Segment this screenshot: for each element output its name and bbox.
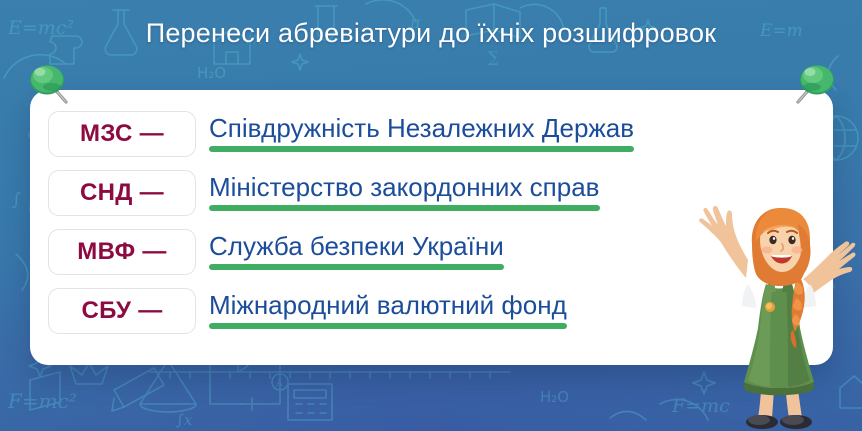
abbreviation-chip-4[interactable]: СБУ — — [48, 288, 196, 334]
answer-slot-3[interactable]: Служба безпеки України — [209, 233, 504, 269]
page-title: Перенеси абревіатури до їхніх розшифрово… — [0, 18, 862, 49]
matching-row[interactable]: МЗС — Співдружність Незалежних Держав — [48, 104, 816, 163]
svg-text:∑: ∑ — [488, 48, 499, 66]
abbreviation-chip-1[interactable]: МЗС — — [48, 111, 196, 157]
matching-rows: МЗС — Співдружність Незалежних Держав СН… — [48, 104, 816, 340]
svg-text:F=mc: F=mc — [671, 395, 730, 417]
svg-text:A: A — [275, 379, 283, 389]
answer-slot-1[interactable]: Співдружність Незалежних Держав — [209, 115, 634, 151]
matching-row[interactable]: СНД — Міністерство закордонних справ — [48, 163, 816, 222]
exercise-card: МЗС — Співдружність Незалежних Держав СН… — [30, 90, 833, 365]
exercise-slide: E=mc² ∫ t √x π ∑ E=m H₂O H₂O F=mc² F=mc … — [0, 0, 862, 431]
svg-text:∫: ∫ — [12, 190, 21, 210]
svg-text:H₂O: H₂O — [540, 388, 569, 406]
matching-row[interactable]: СБУ — Міжнародний валютний фонд — [48, 281, 816, 340]
svg-text:H₂O: H₂O — [197, 64, 226, 82]
answer-slot-2[interactable]: Міністерство закордонних справ — [209, 174, 600, 210]
abbreviation-chip-3[interactable]: МВФ — — [48, 229, 196, 275]
answer-slot-4[interactable]: Міжнародний валютний фонд — [209, 292, 567, 328]
matching-row[interactable]: МВФ — Служба безпеки України — [48, 222, 816, 281]
svg-text:∫x: ∫x — [176, 411, 193, 429]
svg-text:F=mc²: F=mc² — [7, 389, 77, 413]
abbreviation-chip-2[interactable]: СНД — — [48, 170, 196, 216]
